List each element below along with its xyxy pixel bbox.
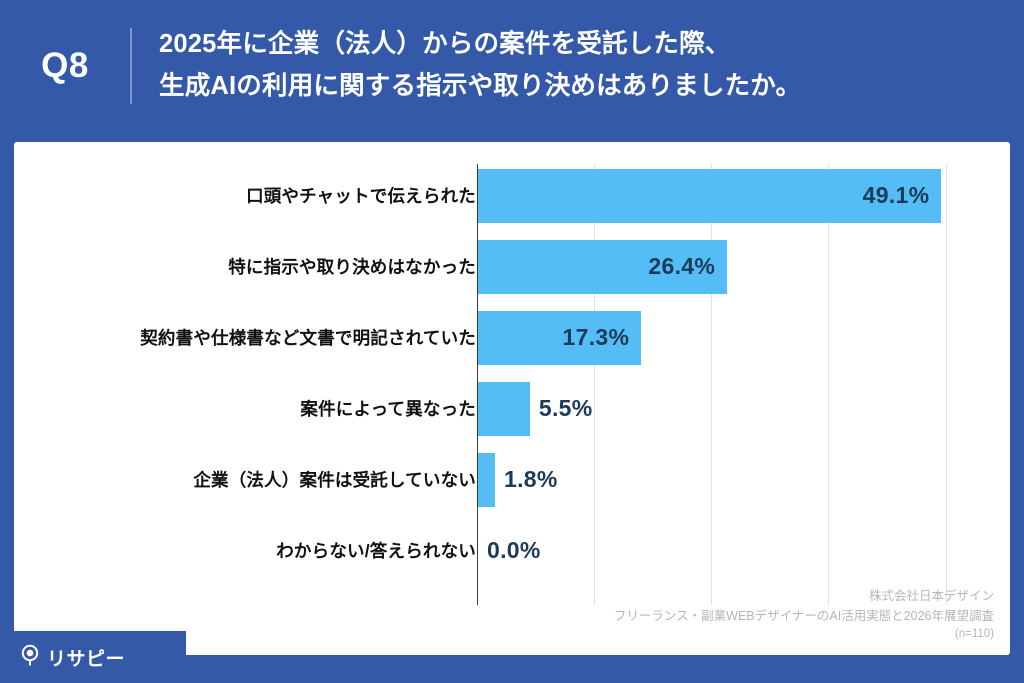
bar-value-label: 0.0% xyxy=(487,537,541,564)
chart-row: 案件によって異なった5.5% xyxy=(14,373,1010,444)
question-number: Q8 xyxy=(0,46,130,86)
category-label: 契約書や仕様書など文書で明記されていた xyxy=(36,325,476,350)
chart-row: わからない/答えられない0.0% xyxy=(14,515,1010,586)
bar-group: 5.5% xyxy=(478,382,593,436)
bar-group: 1.8% xyxy=(478,453,558,507)
category-label: 特に指示や取り決めはなかった xyxy=(36,254,476,279)
bar-chart: 口頭やチャットで伝えられた49.1%特に指示や取り決めはなかった26.4%契約書… xyxy=(14,142,1010,655)
bar-value-label: 49.1% xyxy=(863,182,930,209)
bar[interactable] xyxy=(478,453,495,507)
brand-name: リサピー xyxy=(47,644,125,671)
chart-row: 契約書や仕様書など文書で明記されていた17.3% xyxy=(14,302,1010,373)
bar-value-label: 17.3% xyxy=(563,324,630,351)
bar-value-label: 5.5% xyxy=(539,395,593,422)
category-label: 企業（法人）案件は受託していない xyxy=(36,467,476,492)
slide-root: Q8 2025年に企業（法人）からの案件を受託した際、 生成AIの利用に関する指… xyxy=(0,0,1024,683)
header-divider xyxy=(130,28,132,104)
credit-company: 株式会社日本デザイン xyxy=(614,587,994,606)
credits-block: 株式会社日本デザイン フリーランス・副業WEBデザイナーのAI活用実態と2026… xyxy=(614,587,994,644)
bar-value-label: 1.8% xyxy=(504,466,558,493)
bar-group: 17.3% xyxy=(478,311,696,365)
content-card: 口頭やチャットで伝えられた49.1%特に指示や取り決めはなかった26.4%契約書… xyxy=(14,142,1010,655)
question-title: 2025年に企業（法人）からの案件を受託した際、 生成AIの利用に関する指示や取… xyxy=(159,24,801,107)
bar-group: 49.1% xyxy=(478,169,996,223)
brand-logo[interactable]: リサピー xyxy=(20,644,125,671)
bar-group: 0.0% xyxy=(478,524,541,578)
category-label: 案件によって異なった xyxy=(36,396,476,421)
chart-row: 特に指示や取り決めはなかった26.4% xyxy=(14,231,1010,302)
credit-survey-title: フリーランス・副業WEBデザイナーのAI活用実態と2026年展望調査 xyxy=(614,607,994,626)
credit-sample-size: (n=110) xyxy=(614,626,994,644)
header-band: Q8 2025年に企業（法人）からの案件を受託した際、 生成AIの利用に関する指… xyxy=(0,0,1024,131)
category-label: 口頭やチャットで伝えられた xyxy=(36,183,476,208)
bar[interactable] xyxy=(478,382,530,436)
magnifier-pin-icon xyxy=(20,644,40,671)
chart-row: 口頭やチャットで伝えられた49.1% xyxy=(14,160,1010,231)
category-label: わからない/答えられない xyxy=(36,538,476,563)
bar-group: 26.4% xyxy=(478,240,782,294)
bar-value-label: 26.4% xyxy=(648,253,715,280)
chart-row: 企業（法人）案件は受託していない1.8% xyxy=(14,444,1010,515)
